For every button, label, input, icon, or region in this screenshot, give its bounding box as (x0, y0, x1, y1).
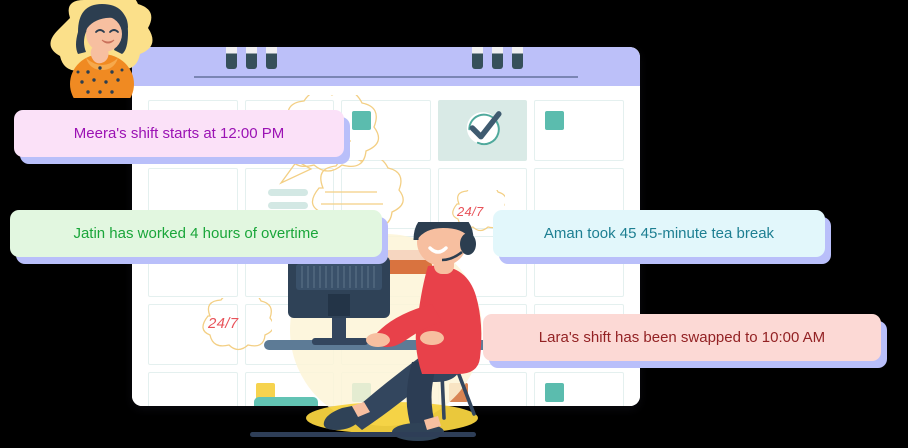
notification-text: Lara's shift has been swapped to 10:00 A… (529, 329, 835, 346)
badge-24-7-b: 24/7 (208, 315, 238, 332)
calendar-header (132, 47, 640, 86)
notification-card-jatin[interactable]: Jatin has worked 4 hours of overtime (10, 210, 382, 257)
binder-ring-icon (472, 47, 483, 69)
notification-text: Jatin has worked 4 hours of overtime (63, 225, 328, 242)
binder-ring-icon (246, 47, 257, 69)
smiling-woman-avatar (44, 0, 160, 98)
header-rule (194, 76, 578, 78)
notification-text: Meera's shift starts at 12:00 PM (64, 125, 294, 142)
check-icon (439, 101, 527, 160)
binder-ring-icon (266, 47, 277, 69)
binder-rings-right (472, 47, 523, 69)
calendar-cell[interactable] (341, 100, 431, 161)
notification-card-lara[interactable]: Lara's shift has been swapped to 10:00 A… (483, 314, 881, 361)
binder-rings-left (226, 47, 277, 69)
binder-ring-icon (226, 47, 237, 69)
calendar-cell-active[interactable] (438, 100, 528, 161)
event-chip-icon (545, 383, 564, 402)
calendar-cell[interactable] (534, 100, 624, 161)
badge-24-7-a: 24/7 (457, 204, 484, 219)
scene-root: 24/7 24/7 (0, 0, 908, 448)
calendar-cell[interactable] (534, 372, 624, 406)
binder-ring-icon (512, 47, 523, 69)
event-chip-icon (545, 111, 564, 130)
notification-card-aman[interactable]: Aman took 45 45-minute tea break (493, 210, 825, 257)
binder-ring-icon (492, 47, 503, 69)
ground-line (250, 432, 476, 437)
notification-text: Aman took 45 45-minute tea break (534, 225, 784, 242)
calendar-cell[interactable] (148, 304, 238, 365)
calendar-cell[interactable] (148, 372, 238, 406)
event-chip-icon (352, 111, 371, 130)
notification-card-meera[interactable]: Meera's shift starts at 12:00 PM (14, 110, 344, 157)
